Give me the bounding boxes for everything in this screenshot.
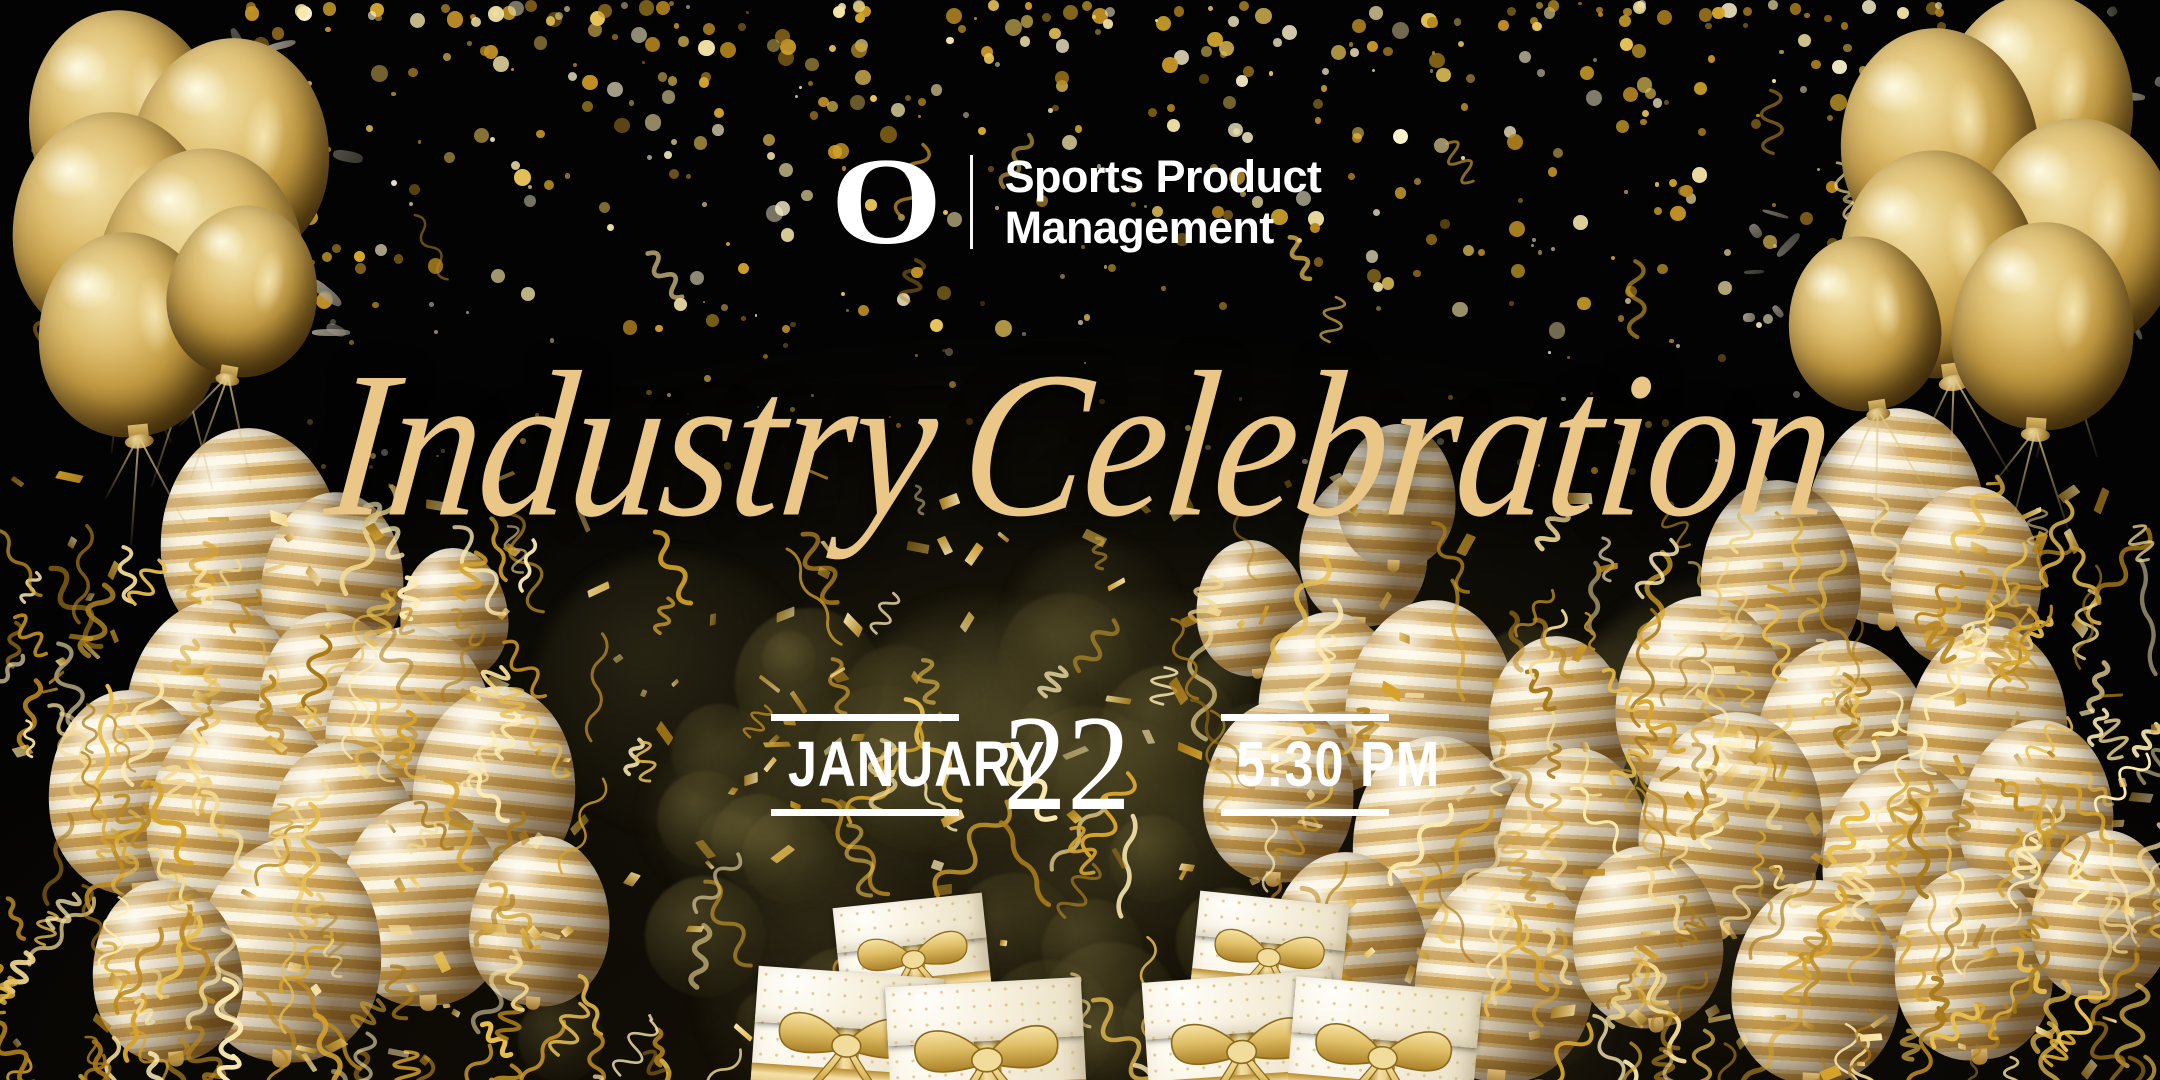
gold-confetti (1498, 20, 1509, 31)
gold-confetti (1429, 53, 1445, 69)
gold-confetti (656, 1, 670, 15)
gold-confetti (1383, 47, 1393, 57)
gold-confetti (1452, 302, 1468, 318)
gold-confetti (1208, 6, 1213, 11)
gold-confetti (1578, 2, 1582, 6)
gold-confetti (1382, 277, 1395, 290)
gold-confetti (1392, 22, 1409, 39)
gold-confetti (1201, 46, 1212, 57)
gold-confetti (366, 593, 409, 648)
gold-confetti (1427, 17, 1438, 28)
gold-confetti (1162, 57, 1178, 73)
gold-confetti (710, 613, 717, 625)
gold-confetti (741, 316, 746, 321)
gold-confetti (1756, 114, 1760, 118)
gold-confetti (1763, 562, 1784, 570)
time-rule-top (1221, 714, 1389, 721)
gold-confetti (598, 4, 612, 18)
event-time: 5:30 PM (1236, 721, 1374, 809)
gold-confetti (931, 84, 943, 96)
gold-confetti (1640, 119, 1647, 126)
gold-confetti (1694, 82, 1707, 95)
gold-confetti (525, 0, 537, 12)
gold-confetti (408, 68, 417, 77)
gold-confetti (668, 76, 678, 86)
gold-confetti (1458, 41, 1464, 47)
gold-confetti (671, 139, 677, 145)
event-time-block: 5:30 PM (1221, 714, 1389, 816)
gold-confetti (1800, 86, 1807, 93)
logo-divider (970, 155, 973, 249)
gold-confetti (490, 137, 495, 142)
gold-confetti (1629, 261, 1656, 338)
gold-confetti (1393, 129, 1408, 144)
gold-confetti (474, 128, 489, 143)
gold-confetti (1242, 132, 1253, 143)
gold-confetti (466, 311, 469, 314)
gold-confetti (280, 934, 302, 1034)
balloon-neck (1387, 560, 1399, 572)
gold-confetti (629, 100, 635, 106)
gold-confetti (443, 1003, 451, 1007)
gold-confetti (1321, 85, 1327, 91)
university-of-oregon-o-logo: O (830, 151, 942, 253)
gold-confetti (1743, 7, 1752, 16)
gold-confetti (974, 17, 977, 20)
gold-confetti (978, 127, 986, 135)
gold-confetti (1549, 8, 1553, 12)
gold-confetti (2101, 693, 2124, 697)
gold-confetti (1657, 264, 1667, 274)
event-date-bar: JANUARY 22 5:30 PM (0, 700, 2160, 830)
gold-confetti (612, 34, 618, 40)
gold-confetti (1790, 3, 1802, 15)
gold-confetti (1042, 13, 1051, 22)
gold-confetti (1350, 48, 1359, 57)
gold-confetti (1653, 98, 1663, 108)
logo-wordmark-line1: Sports Product (1005, 151, 1322, 202)
gold-confetti (639, 0, 654, 15)
gold-confetti (1577, 297, 1591, 311)
gold-confetti (1804, 13, 1809, 18)
gold-confetti (410, 13, 425, 28)
gold-confetti (1167, 119, 1180, 132)
gold-confetti (1273, 38, 1282, 47)
gift-bow (900, 1008, 1074, 1080)
gold-confetti (706, 314, 719, 327)
gold-confetti (607, 82, 623, 98)
gold-confetti (850, 95, 865, 110)
gold-confetti (488, 6, 504, 22)
gold-confetti (371, 65, 388, 82)
gold-confetti (1161, 286, 1165, 290)
gold-confetti (1762, 89, 1796, 153)
gold-confetti (1509, 301, 1513, 305)
gold-confetti (645, 114, 662, 131)
gold-confetti (988, 0, 999, 11)
gold-confetti (662, 90, 675, 103)
logo-block: O Sports Product Management (0, 148, 2160, 256)
event-month-block: JANUARY (771, 714, 959, 816)
gold-confetti (937, 286, 951, 300)
logo-wordmark-line2: Management (1005, 202, 1322, 253)
gold-confetti (1718, 281, 1732, 295)
gold-confetti (1084, 314, 1091, 321)
gold-confetti (614, 118, 630, 134)
gold-confetti (674, 23, 680, 29)
gold-confetti (467, 41, 472, 46)
gold-confetti (508, 1, 523, 16)
gold-confetti (325, 27, 331, 33)
gold-confetti (1841, 22, 1849, 30)
gift-box (1280, 976, 1482, 1080)
gold-confetti (388, 925, 413, 935)
gold-confetti (555, 12, 563, 20)
gold-confetti (1315, 117, 1322, 124)
gold-confetti (1239, 1, 1249, 11)
gold-confetti (1751, 119, 1761, 129)
gold-confetti (686, 925, 705, 931)
gold-confetti (372, 302, 378, 308)
event-title-word-2: Celebration (953, 341, 1841, 549)
gold-confetti (447, 11, 464, 28)
gold-confetti (1082, 1, 1092, 11)
gold-confetti (1583, 868, 1605, 876)
gold-confetti (180, 667, 206, 674)
gold-confetti (1633, 1, 1646, 14)
gold-confetti (810, 111, 819, 120)
gold-confetti (698, 40, 715, 57)
gold-confetti (418, 140, 421, 143)
gold-confetti (678, 36, 688, 46)
gold-confetti (481, 923, 507, 934)
gold-confetti (484, 45, 498, 59)
gold-confetti (1768, 0, 1778, 10)
gold-confetti (1369, 6, 1383, 20)
gold-confetti (1742, 313, 1754, 323)
gold-confetti (272, 27, 284, 39)
gold-confetti (429, 302, 434, 307)
gold-confetti (521, 287, 535, 301)
gold-confetti (1811, 60, 1821, 70)
gold-confetti (564, 6, 570, 12)
gold-confetti (1705, 23, 1712, 30)
gold-confetti (1055, 71, 1069, 85)
event-title-word-1: Industry (319, 341, 945, 549)
gold-confetti (984, 53, 995, 64)
gold-confetti (534, 36, 548, 50)
balloon-neck (1486, 1069, 1505, 1080)
gold-confetti (1712, 7, 1724, 19)
gold-confetti (963, 112, 969, 118)
gold-confetti (1857, 1061, 1865, 1065)
logo-wordmark: Sports Product Management (1005, 151, 1322, 254)
gold-confetti (674, 298, 687, 311)
gold-confetti (829, 45, 836, 52)
gold-confetti (511, 68, 514, 71)
gold-confetti (980, 301, 984, 305)
gold-confetti (1223, 96, 1237, 110)
gold-confetti (1586, 90, 1603, 107)
gold-confetti (582, 101, 593, 112)
gold-confetti (1413, 270, 1421, 278)
gold-confetti (1148, 108, 1157, 117)
gold-confetti (1537, 69, 1545, 77)
gold-confetti (582, 75, 598, 91)
gold-confetti (1092, 15, 1096, 19)
gold-confetti (1492, 678, 1501, 687)
gold-confetti (1199, 74, 1209, 84)
gold-confetti (443, 53, 451, 61)
gold-confetti (2005, 1057, 2028, 1080)
gold-confetti (1897, 7, 1909, 19)
gold-confetti (1664, 100, 1669, 105)
gold-confetti (493, 56, 509, 72)
gold-confetti (1620, 38, 1633, 51)
gold-confetti (1466, 74, 1475, 83)
month-rule-top (771, 714, 959, 721)
gold-confetti (2136, 1057, 2160, 1080)
gold-confetti (546, 16, 556, 26)
gold-confetti (790, 322, 796, 328)
gold-confetti (1698, 128, 1706, 136)
gold-confetti (658, 72, 667, 81)
gold-confetti (712, 124, 724, 136)
gold-confetti (755, 314, 758, 317)
gold-confetti (491, 269, 505, 283)
gold-confetti (721, 304, 728, 311)
gold-confetti (1236, 75, 1248, 87)
gold-confetti (1461, 103, 1469, 111)
gold-confetti (1430, 69, 1434, 73)
gold-confetti (827, 101, 838, 112)
gold-confetti (1798, 34, 1811, 47)
gold-confetti (295, 4, 309, 18)
gold-confetti (1580, 66, 1594, 80)
gold-confetti (1714, 666, 1737, 675)
time-rule-bottom (1221, 809, 1389, 816)
event-day: 22 (1003, 695, 1131, 832)
gold-confetti (1536, 2, 1543, 9)
gift-box (885, 977, 1091, 1080)
gold-confetti (686, 5, 690, 9)
event-month: JANUARY (788, 721, 942, 809)
gold-confetti (1640, 930, 1659, 935)
month-rule-bottom (771, 809, 959, 816)
gold-confetti (763, 134, 775, 146)
gold-confetti (1773, 1015, 1785, 1020)
gold-confetti (1744, 269, 1764, 274)
gold-confetti (1220, 51, 1227, 58)
gold-confetti (366, 125, 373, 132)
gold-confetti (1619, 15, 1631, 27)
gold-confetti (918, 115, 921, 118)
gold-confetti (1103, 19, 1112, 28)
event-banner: O Sports Product Management IndustryCele… (0, 0, 2160, 1080)
gold-confetti (1095, 29, 1101, 35)
gold-confetti (891, 103, 905, 117)
gold-confetti (1174, 6, 1185, 17)
gold-confetti (853, 0, 865, 12)
gold-confetti (1624, 1042, 1655, 1080)
gold-confetti (1005, 19, 1022, 36)
gold-confetti (323, 2, 337, 16)
gift-bow (1297, 1006, 1466, 1080)
gold-confetti (645, 37, 661, 53)
gold-confetti (858, 305, 869, 316)
gold-confetti (1179, 863, 1195, 871)
gold-confetti (1405, 692, 1425, 698)
event-title: IndustryCelebration (0, 352, 2160, 538)
gold-confetti (368, 11, 377, 20)
gold-confetti (1078, 320, 1083, 325)
gold-confetti (1699, 8, 1713, 22)
gold-confetti (1367, 41, 1378, 52)
gold-confetti (1642, 110, 1649, 117)
